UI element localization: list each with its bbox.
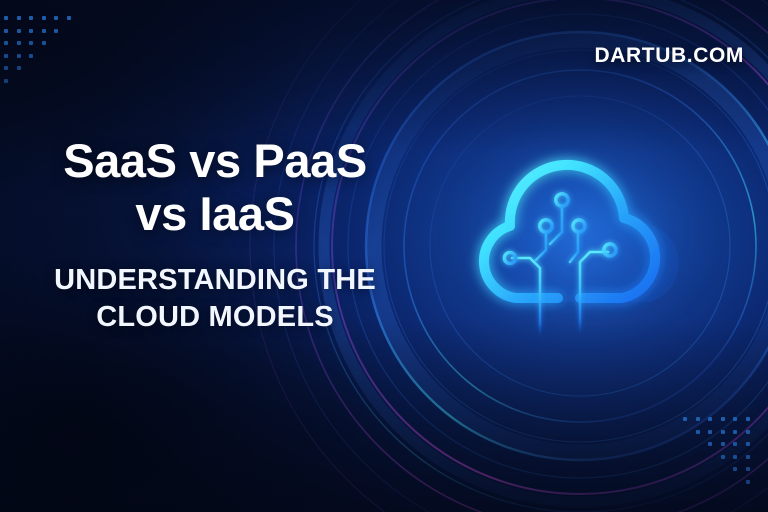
decor-dot [29,41,33,45]
decor-dot [67,16,71,20]
title-block: SaaS vs PaaS vs IaaS UNDERSTANDING THE C… [0,134,430,336]
page-subtitle: UNDERSTANDING THE CLOUD MODELS [0,262,430,336]
decor-dot [17,54,21,58]
decor-dot [733,467,737,471]
decor-dot [17,16,21,20]
page-title: SaaS vs PaaS vs IaaS [0,134,430,240]
decor-dot [708,430,712,434]
decor-dot [746,442,750,446]
decor-dot [696,417,700,421]
decor-dot [17,41,21,45]
subhead-line-1: UNDERSTANDING THE [54,264,376,296]
decor-dot [733,442,737,446]
decor-dot [42,41,46,45]
poster-canvas: DARTUB.COM SaaS vs PaaS vs IaaS UNDERSTA… [0,0,768,512]
decor-dot [42,29,46,33]
cloud-circuit-icon [440,120,720,400]
decor-dot [17,29,21,33]
decor-dot [696,430,700,434]
decor-dot [708,417,712,421]
dot-grid-top-left [4,16,79,91]
decor-dot [683,417,687,421]
decor-dot [721,417,725,421]
decor-dot [4,29,8,33]
headline-line-1: SaaS vs PaaS [63,134,367,187]
decor-dot [746,417,750,421]
decor-dot [42,16,46,20]
decor-dot [54,29,58,33]
decor-dot [29,16,33,20]
decor-dot [746,430,750,434]
decor-dot [17,66,21,70]
decor-dot [721,430,725,434]
decor-dot [29,54,33,58]
decor-dot [721,442,725,446]
subhead-line-2: CLOUD MODELS [0,299,430,336]
decor-dot [746,455,750,459]
decor-dot [746,467,750,471]
decor-dot [29,29,33,33]
decor-dot [4,16,8,20]
decor-dot [708,442,712,446]
decor-dot [4,79,8,83]
decor-dot [4,41,8,45]
decor-dot [733,455,737,459]
decor-dot [721,455,725,459]
decor-dot [4,54,8,58]
decor-dot [746,480,750,484]
decor-dot [4,66,8,70]
headline-line-2: vs IaaS [0,187,430,240]
dot-grid-bottom-right [683,417,758,492]
decor-dot [54,16,58,20]
decor-dot [733,430,737,434]
brand-watermark: DARTUB.COM [595,44,744,68]
decor-dot [733,417,737,421]
